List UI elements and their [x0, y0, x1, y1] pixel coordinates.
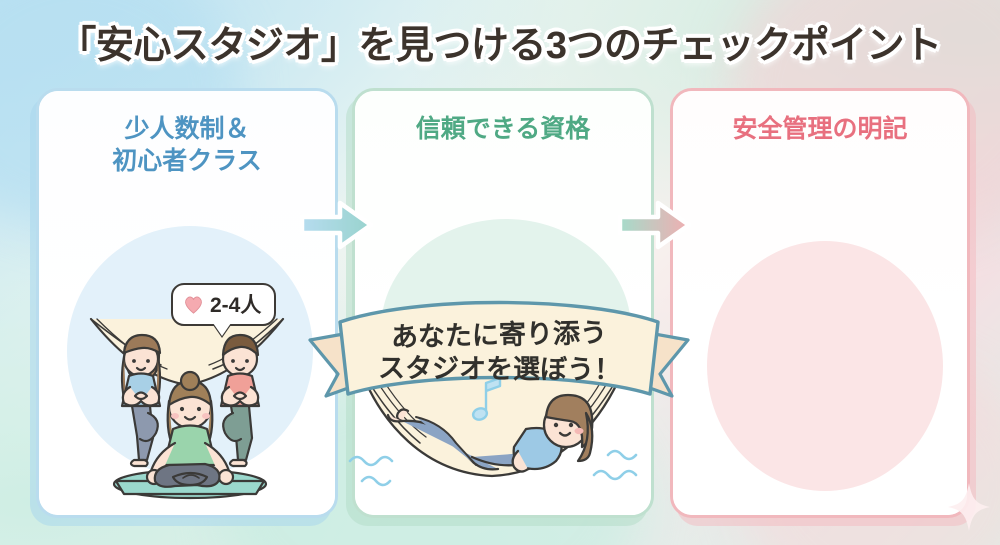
arrow-panel1-to-panel2-icon	[300, 198, 374, 252]
halo-blob-3	[707, 241, 943, 491]
panel-2-heading-line1: 信頼できる資格	[355, 113, 651, 145]
infographic-canvas: 「安心スタジオ」を見つける3つのチェックポイント 少人数制＆ 初心者クラス	[0, 0, 1000, 545]
banner-shape	[306, 288, 692, 408]
card-background-1: 少人数制＆ 初心者クラス	[39, 91, 335, 515]
card-background-3: 安全管理の明記	[673, 91, 967, 515]
sparkle-icon	[946, 481, 992, 533]
heart-icon	[183, 295, 204, 314]
capacity-badge: 2-4人	[171, 283, 276, 326]
panel-1-heading-line2: 初心者クラス	[39, 145, 335, 177]
panel-2-heading: 信頼できる資格	[355, 113, 651, 145]
arrow-panel2-to-panel3-icon	[618, 198, 692, 252]
panel-3-heading-line1: 安全管理の明記	[673, 113, 967, 145]
banner-ribbon: あなたに寄り添う スタジオを選ぼう！	[306, 288, 692, 413]
panel-1-heading: 少人数制＆ 初心者クラス	[39, 113, 335, 177]
panel-1-heading-line1: 少人数制＆	[39, 113, 335, 145]
panel-3-heading: 安全管理の明記	[673, 113, 967, 145]
panel-card-small-class[interactable]: 少人数制＆ 初心者クラス	[36, 88, 338, 518]
capacity-badge-text: 2-4人	[210, 289, 261, 319]
panel-card-safety-management[interactable]: 安全管理の明記	[670, 88, 970, 518]
title-area: 「安心スタジオ」を見つける3つのチェックポイント	[0, 14, 1000, 69]
yoga-group-illustration	[83, 301, 298, 516]
page-title: 「安心スタジオ」を見つける3つのチェックポイント	[58, 14, 941, 69]
